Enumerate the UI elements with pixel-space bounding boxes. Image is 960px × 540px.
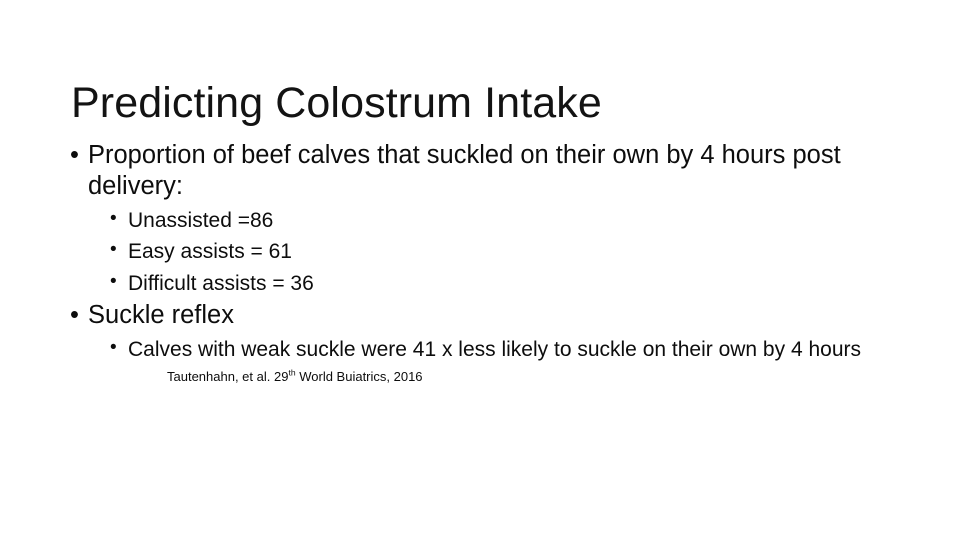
sub-bullet-item-unassisted: • Unassisted =86 xyxy=(88,205,960,237)
sub-bullet-marker-icon: • xyxy=(110,334,117,363)
bullet-list-level-2-proportion: • Unassisted =86 • Easy assists = 61 • D… xyxy=(88,205,960,300)
sub-bullet-marker-icon: • xyxy=(110,268,117,297)
sub-bullet-text-difficult-assists: Difficult assists = 36 xyxy=(128,272,314,295)
sub-bullet-item-difficult-assists: • Difficult assists = 36 xyxy=(88,268,960,300)
sub-bullet-item-easy-assists: • Easy assists = 61 xyxy=(88,236,960,268)
page-title: Predicting Colostrum Intake xyxy=(71,79,891,127)
bullet-list-level-2-suckle: • Calves with weak suckle were 41 x less… xyxy=(88,334,960,366)
bullet-text-suckle-reflex: Suckle reflex xyxy=(88,300,888,331)
bullet-marker-icon: • xyxy=(70,140,79,171)
citation-ordinal-suffix: th xyxy=(288,367,295,377)
bullet-item-suckle-reflex: • Suckle reflex • Calves with weak suckl… xyxy=(0,300,960,386)
sub-bullet-text-unassisted: Unassisted =86 xyxy=(128,209,273,232)
sub-bullet-marker-icon: • xyxy=(110,236,117,265)
citation-author: Tautenhahn, et al. xyxy=(167,369,274,384)
sub-bullet-marker-icon: • xyxy=(110,205,117,234)
citation-reference: Tautenhahn, et al. 29th World Buiatrics,… xyxy=(88,368,960,387)
presentation-slide: Predicting Colostrum Intake • Proportion… xyxy=(0,0,960,540)
bullet-marker-icon: • xyxy=(70,300,79,331)
sub-bullet-text-easy-assists: Easy assists = 61 xyxy=(128,240,292,263)
bullet-item-proportion: • Proportion of beef calves that suckled… xyxy=(0,140,960,299)
citation-ordinal-number: 29 xyxy=(274,369,288,384)
bullet-text-proportion: Proportion of beef calves that suckled o… xyxy=(88,140,888,202)
sub-bullet-item-weak-suckle: • Calves with weak suckle were 41 x less… xyxy=(88,334,960,366)
slide-body: • Proportion of beef calves that suckled… xyxy=(0,140,960,387)
citation-source: World Buiatrics, 2016 xyxy=(296,369,423,384)
sub-bullet-text-weak-suckle: Calves with weak suckle were 41 x less l… xyxy=(128,338,861,361)
bullet-list-level-1: • Proportion of beef calves that suckled… xyxy=(0,140,960,386)
